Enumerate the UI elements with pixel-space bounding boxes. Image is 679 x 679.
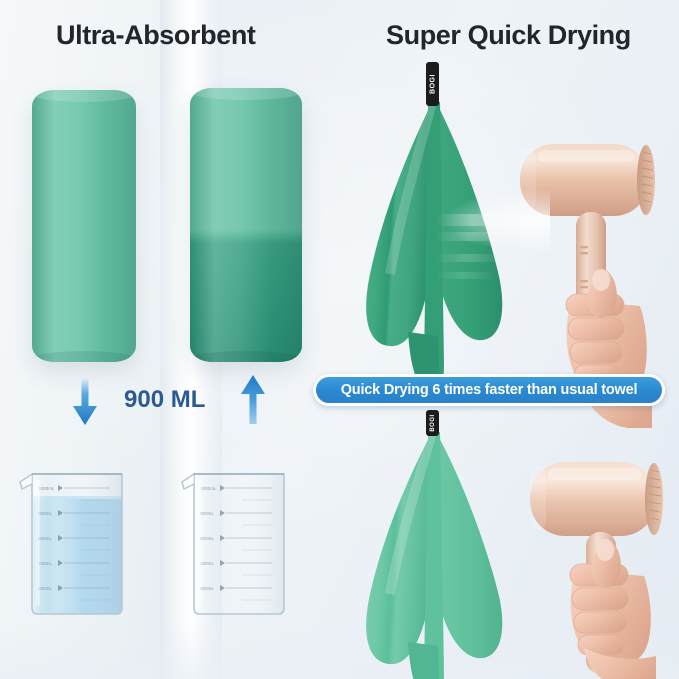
volume-capacity-label: 900 ML xyxy=(124,386,205,414)
product-infographic: Ultra-Absorbent Super Quick Drying xyxy=(0,0,679,679)
beaker2-grad-200: 200mL xyxy=(200,586,214,591)
beaker2-grad-800: 800mL xyxy=(200,511,214,516)
hang-tag-text-bottom: BOGI xyxy=(430,414,436,431)
beaker2-grad-600: 600mL xyxy=(200,536,214,541)
towel-roll-dry-shading xyxy=(32,90,136,362)
towel-roll-wet-bottom xyxy=(190,351,302,362)
hang-tag-top: BOGI xyxy=(426,62,439,106)
towel-roll-dry-bottom xyxy=(32,351,136,362)
banner-text: Quick Drying 6 times faster than usual t… xyxy=(341,382,638,398)
towel-roll-wet-body xyxy=(190,88,302,362)
hang-tag-bottom: BOGI xyxy=(426,410,439,436)
hand-holding-dryer-bottom xyxy=(560,530,679,679)
heading-ultra-absorbent: Ultra-Absorbent xyxy=(56,20,256,51)
towel-roll-dry-body xyxy=(32,90,136,362)
beaker-grad-200: 200mL xyxy=(38,586,52,591)
beaker2-grad-1000: 1000mL xyxy=(200,486,217,491)
towel-roll-wet xyxy=(190,88,302,362)
beaker-empty: 1000mL 800mL 600mL 400mL 200mL xyxy=(180,456,298,616)
towel-roll-dry xyxy=(32,90,136,362)
beaker2-grad-400: 400mL xyxy=(200,561,214,566)
heading-super-quick-drying: Super Quick Drying xyxy=(386,20,631,51)
towel-roll-wet-shading xyxy=(190,88,302,362)
up-arrow-icon xyxy=(240,374,266,424)
quick-drying-banner: Quick Drying 6 times faster than usual t… xyxy=(313,374,665,406)
down-arrow-icon xyxy=(72,378,98,426)
beaker-grad-1000: 1000mL xyxy=(38,486,55,491)
beaker-grad-400: 400mL xyxy=(38,561,52,566)
beaker-filled: 1000mL 800mL 600mL 400mL 200mL xyxy=(18,456,136,616)
beaker-grad-800: 800mL xyxy=(38,511,52,516)
beaker-grad-600: 600mL xyxy=(38,536,52,541)
hang-tag-text: BOGI xyxy=(429,74,436,94)
